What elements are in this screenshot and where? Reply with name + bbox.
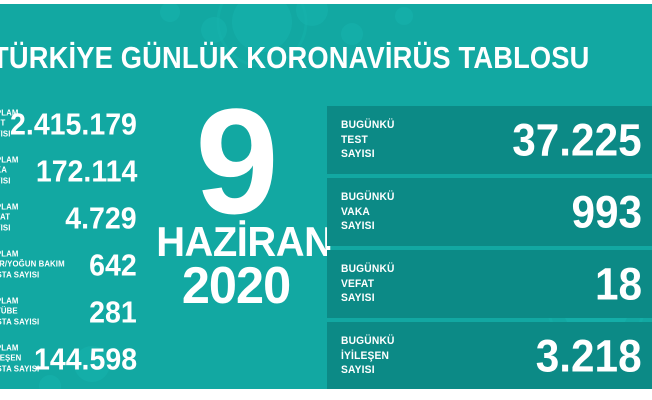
total-row-intubated: TOPLAM ENTÜBE HASTA SAYISI 281	[0, 288, 150, 335]
total-row-recovered: TOPLAM İYİLEŞEN HASTA SAYISI 144.598	[0, 335, 150, 382]
daily-figures-panel: BUGÜNKÜ TEST SAYISI 37.225 BUGÜNKÜ VAKA …	[327, 106, 652, 389]
daily-label-death: BUGÜNKÜ VEFAT SAYISI	[341, 262, 395, 306]
daily-row-death: BUGÜNKÜ VEFAT SAYISI 18	[327, 250, 652, 318]
total-value-case: 172.114	[35, 155, 137, 186]
cumulative-totals-column: TOPLAM TEST SAYISI 2.415.179 TOPLAM VAKA…	[0, 100, 150, 382]
daily-row-test: BUGÜNKÜ TEST SAYISI 37.225	[327, 106, 652, 174]
total-value-intubated: 281	[89, 296, 137, 327]
daily-label-recovered: BUGÜNKÜ İYİLEŞEN SAYISI	[341, 334, 395, 378]
total-row-case: TOPLAM VAKA SAYISI 172.114	[0, 147, 150, 194]
total-row-death: TOPLAM VEFAT SAYISI 4.729	[0, 194, 150, 241]
total-label-death: TOPLAM VEFAT SAYISI	[0, 201, 18, 234]
daily-row-case: BUGÜNKÜ VAKA SAYISI 993	[327, 178, 652, 246]
daily-label-test: BUGÜNKÜ TEST SAYISI	[341, 118, 395, 162]
daily-value-death: 18	[595, 262, 642, 307]
date-block: 9 HAZİRAN 2020	[152, 100, 320, 311]
total-value-intensive-care: 642	[89, 249, 137, 280]
total-value-recovered: 144.598	[34, 343, 137, 374]
daily-value-test: 37.225	[513, 118, 642, 163]
daily-label-case: BUGÜNKÜ VAKA SAYISI	[341, 190, 395, 234]
total-label-intubated: TOPLAM ENTÜBE HASTA SAYISI	[0, 295, 39, 328]
daily-row-recovered: BUGÜNKÜ İYİLEŞEN SAYISI 3.218	[327, 322, 652, 389]
total-value-test: 2.415.179	[10, 108, 137, 139]
poster-canvas: TÜRKİYE GÜNLÜK KORONAVİRÜS TABLOSU TOPLA…	[0, 4, 652, 389]
total-row-intensive-care: TOPLAM AĞIR/YOĞUN BAKIM HASTA SAYISI 642	[0, 241, 150, 288]
total-value-death: 4.729	[66, 202, 137, 233]
total-label-case: TOPLAM VAKA SAYISI	[0, 154, 18, 187]
date-year: 2020	[155, 262, 318, 311]
coronavirus-daily-table-poster: TÜRKİYE GÜNLÜK KORONAVİRÜS TABLOSU TOPLA…	[0, 0, 652, 400]
page-title: TÜRKİYE GÜNLÜK KORONAVİRÜS TABLOSU	[0, 42, 555, 73]
daily-value-recovered: 3.218	[536, 334, 642, 379]
total-label-intensive-care: TOPLAM AĞIR/YOĞUN BAKIM HASTA SAYISI	[0, 248, 65, 281]
total-row-test: TOPLAM TEST SAYISI 2.415.179	[0, 100, 150, 147]
daily-value-case: 993	[571, 190, 642, 235]
date-day: 9	[152, 100, 320, 223]
